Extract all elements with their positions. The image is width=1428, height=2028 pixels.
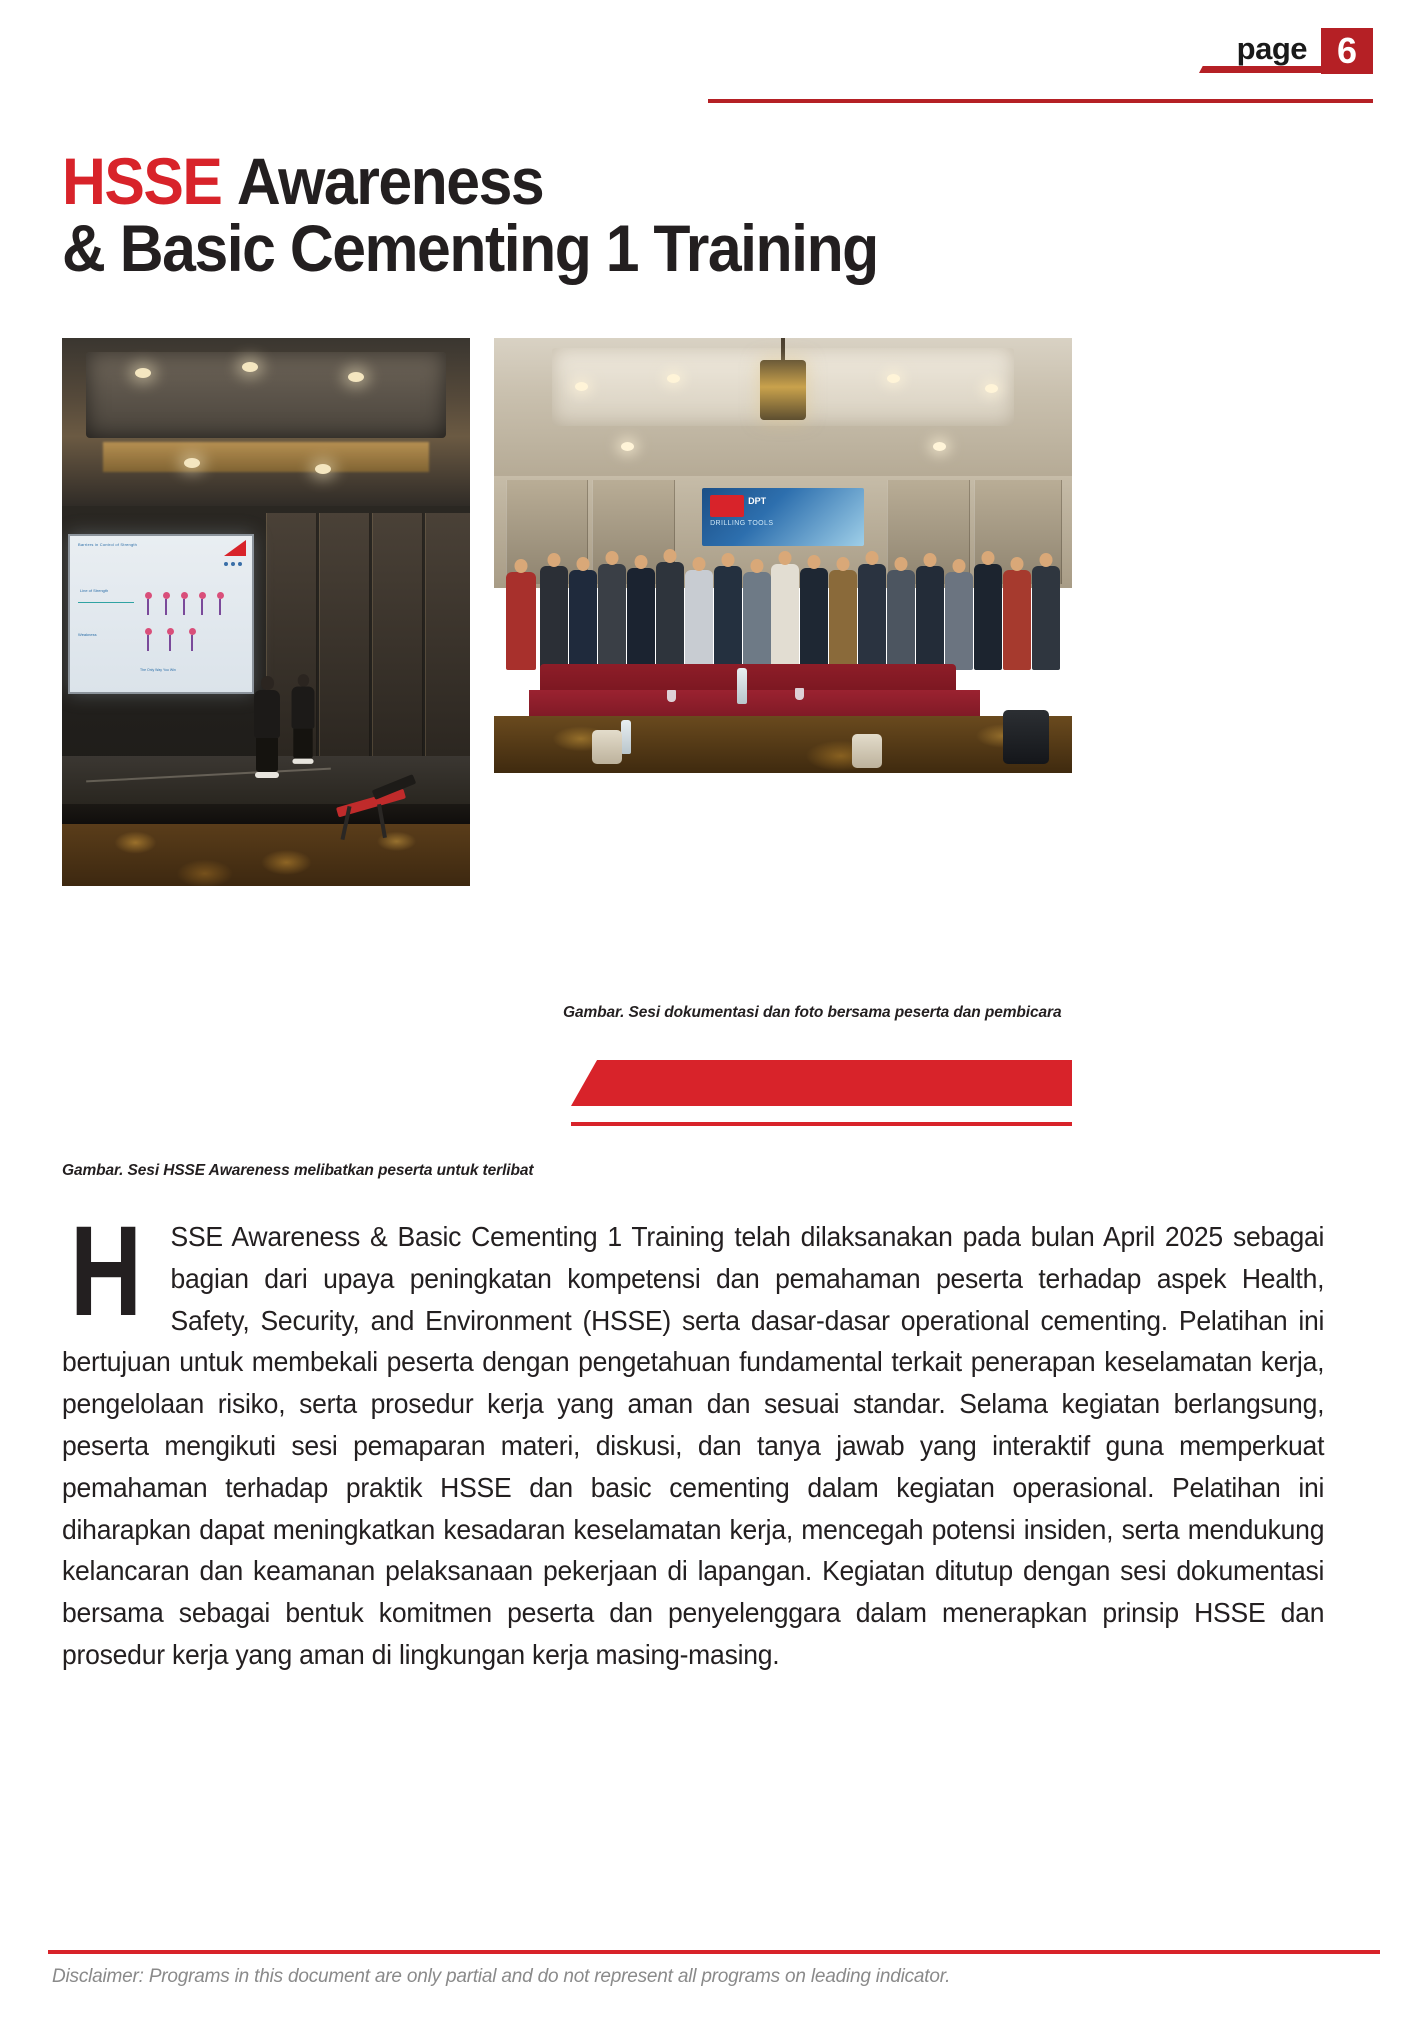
photo1-slide-figure-icon xyxy=(198,592,206,615)
photo1-slide-figure-icon xyxy=(144,592,152,615)
photo2-drinking-glass xyxy=(795,688,804,700)
photo1-downlight xyxy=(315,464,331,474)
photo2-ceiling xyxy=(494,338,1072,478)
photo1-participant-body xyxy=(292,686,315,728)
group-documentation-photo: DPT DRILLING TOOLS xyxy=(494,338,1072,773)
photo2-person xyxy=(627,568,655,670)
photo1-wall-panel xyxy=(319,513,370,763)
photo1-wall-panel xyxy=(372,513,423,763)
photo1-downlight xyxy=(242,362,258,372)
photo2-water-bottle xyxy=(621,720,631,754)
figure-2-caption: Gambar. Sesi dokumentasi dan foto bersam… xyxy=(563,1004,1062,1022)
photo2-chandelier xyxy=(760,360,806,420)
page-number: 6 xyxy=(1337,33,1357,69)
header-divider-rule xyxy=(708,99,1373,103)
article-body: H SSE Awareness & Basic Cementing 1 Trai… xyxy=(62,1216,1370,1676)
article-paragraph: SSE Awareness & Basic Cementing 1 Traini… xyxy=(62,1216,1324,1676)
photo1-slide-figure-icon xyxy=(216,592,224,615)
photo1-slide-figure-icon xyxy=(144,628,152,651)
photo1-wall-panel xyxy=(425,513,470,763)
photo2-chandelier-rod xyxy=(781,338,785,362)
photo1-slide-figure-icon xyxy=(166,628,174,651)
hsse-awareness-session-photo: Barriers in Control of Strength Line of … xyxy=(62,338,470,886)
photo1-slide-figure-icon xyxy=(180,592,188,615)
photo1-slide-dots-icon xyxy=(224,562,242,566)
photo1-slide-figure-icon xyxy=(188,628,196,651)
footer-disclaimer: Disclaimer: Programs in this document ar… xyxy=(52,1966,950,1988)
photo1-participant-head xyxy=(297,674,308,686)
photo2-downlight xyxy=(887,374,900,383)
photo2-drinking-glass xyxy=(667,690,676,702)
photo1-slide-accent-shape xyxy=(224,540,246,556)
photo2-person xyxy=(916,566,944,670)
photo1-chair-leg xyxy=(377,804,387,838)
photo2-person xyxy=(829,570,857,670)
photo2-carpet-floor xyxy=(494,716,1072,773)
photo2-stool xyxy=(592,730,622,764)
photo1-downlight xyxy=(348,372,364,382)
title-line-1: HSSE Awareness xyxy=(62,148,991,215)
photo1-slide-line xyxy=(78,602,134,603)
photo1-slide-label-1: Line of Strength xyxy=(80,588,108,593)
photo1-speaker xyxy=(254,676,280,778)
photo2-person xyxy=(974,564,1002,670)
photo1-slide-footnote: The Only Way You Win xyxy=(140,668,176,672)
photo1-participant xyxy=(292,674,315,764)
photo1-slide-label-2: Weakness xyxy=(78,632,97,637)
photo2-equipment-case xyxy=(1003,710,1049,764)
photo2-banner-logo-mark xyxy=(710,495,744,517)
title-line-1-rest: Awareness xyxy=(237,144,543,218)
photo1-slide-figure-icon xyxy=(162,592,170,615)
photo2-banner-subtitle: DRILLING TOOLS xyxy=(710,520,773,527)
photo1-ceiling xyxy=(62,338,470,508)
red-arrow-decoration xyxy=(571,1060,1072,1106)
photo1-cove-light xyxy=(103,442,429,472)
photo2-person xyxy=(1003,570,1031,670)
photo1-speaker-shoes xyxy=(255,772,279,778)
photo2-person xyxy=(656,562,684,670)
photo2-person xyxy=(800,568,828,670)
photo1-projector-screen: Barriers in Control of Strength Line of … xyxy=(68,534,254,694)
photo2-person xyxy=(743,572,771,670)
photo1-speaker-body xyxy=(254,690,280,738)
photo2-person xyxy=(771,564,799,670)
photo2-person xyxy=(598,564,626,670)
photo2-downlight xyxy=(621,442,634,451)
photo2-person xyxy=(1032,566,1060,670)
page-label-box: page xyxy=(1197,28,1321,74)
photo2-person xyxy=(569,570,597,670)
title-line-2: & Basic Cementing 1 Training xyxy=(62,215,991,282)
photo2-person xyxy=(714,566,742,670)
photo1-participant-legs xyxy=(293,729,312,759)
photo2-person xyxy=(685,570,713,670)
photo1-slide-heading: Barriers in Control of Strength xyxy=(78,542,137,547)
red-arrow-underline-rule xyxy=(571,1122,1072,1126)
figure-1-caption: Gambar. Sesi HSSE Awareness melibatkan p… xyxy=(62,1162,533,1180)
photo2-person xyxy=(887,570,915,670)
photo2-banner-brand: DPT xyxy=(748,496,766,506)
photo1-speaker-head xyxy=(261,676,274,690)
article-title: HSSE Awareness & Basic Cementing 1 Train… xyxy=(62,148,1072,283)
footer-divider-rule xyxy=(48,1950,1380,1954)
page-badge: page 6 xyxy=(1197,28,1373,74)
page-header: page 6 xyxy=(0,28,1428,88)
photo2-stool xyxy=(852,734,882,768)
photo2-person xyxy=(540,566,568,670)
page-label: page xyxy=(1237,33,1307,64)
photo2-person xyxy=(858,564,886,670)
photo1-ceiling-panel xyxy=(86,352,445,438)
page-label-underline-shape xyxy=(1199,66,1325,73)
photo2-water-bottle xyxy=(737,668,747,704)
photo1-speaker-legs xyxy=(256,738,278,772)
photo1-folding-chair xyxy=(336,782,418,836)
photo1-participant-shoes xyxy=(292,759,313,764)
photo2-person xyxy=(945,572,973,670)
photo2-downlight xyxy=(933,442,946,451)
title-highlight: HSSE xyxy=(62,144,221,218)
photo2-downlight xyxy=(575,382,588,391)
photo2-person xyxy=(506,572,536,670)
page-number-box: 6 xyxy=(1321,28,1373,74)
photo2-participants-group xyxy=(494,534,1072,670)
